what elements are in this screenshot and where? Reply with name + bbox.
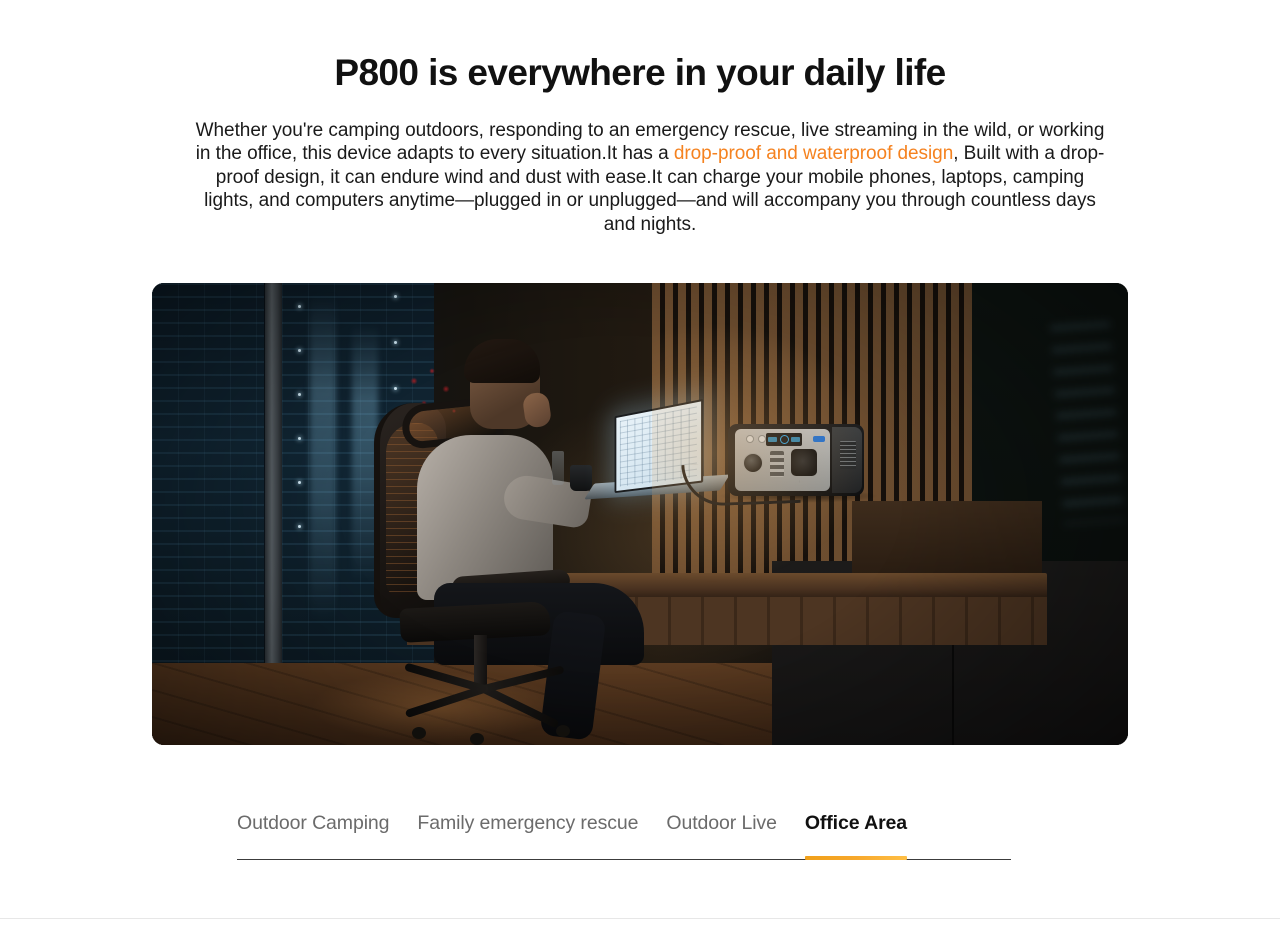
hero-scene [152, 283, 1128, 745]
tab-outdoor-live[interactable]: Outdoor Live [666, 806, 776, 840]
page-title: P800 is everywhere in your daily life [0, 50, 1280, 96]
tab-outdoor-camping[interactable]: Outdoor Camping [237, 806, 389, 840]
water-glass [552, 451, 564, 485]
city-lights-texture [152, 283, 264, 683]
office-chair-base [410, 681, 570, 735]
window-pane-left [152, 283, 264, 683]
scenario-tabs: Outdoor Camping Family emergency rescue … [237, 806, 1011, 862]
person-hair [464, 339, 540, 383]
hero-image [152, 283, 1128, 745]
tab-family-emergency-rescue[interactable]: Family emergency rescue [417, 806, 638, 840]
product-feature-page: P800 is everywhere in your daily life Wh… [0, 0, 1280, 926]
tab-office-area[interactable]: Office Area [805, 806, 907, 840]
window-glow-strip [310, 293, 336, 623]
wood-slat-wall [652, 283, 982, 583]
description-highlight-link[interactable]: drop-proof and waterproof design [674, 143, 953, 164]
coffee-mug [570, 465, 592, 491]
footer-divider [0, 918, 1280, 919]
office-chair-post [474, 635, 487, 687]
tab-row: Outdoor Camping Family emergency rescue … [237, 806, 1011, 840]
window-mullion [265, 283, 282, 713]
section-description: Whether you're camping outdoors, respond… [190, 119, 1110, 236]
tab-active-indicator [805, 856, 907, 860]
